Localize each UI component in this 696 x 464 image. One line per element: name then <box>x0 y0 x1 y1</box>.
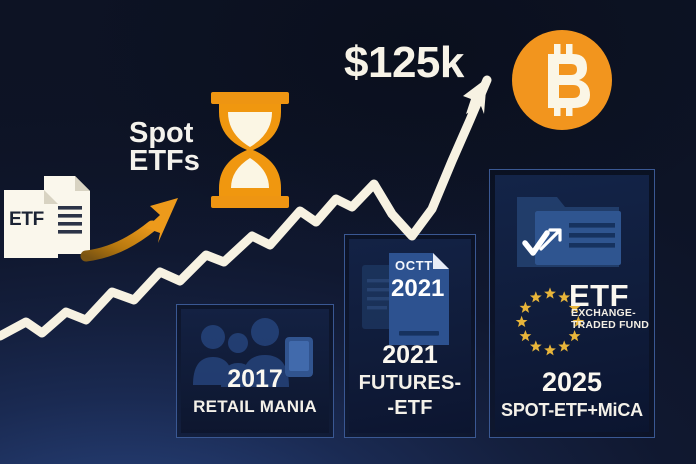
infographic-canvas: 2017 RETAIL MANIA <box>0 0 696 464</box>
spot-line2: ETFs <box>129 145 200 177</box>
spot-line1: Spot <box>129 117 193 149</box>
spot-etfs-label: Spot ETFs <box>129 119 200 176</box>
price-annotation: $125k <box>344 38 464 88</box>
